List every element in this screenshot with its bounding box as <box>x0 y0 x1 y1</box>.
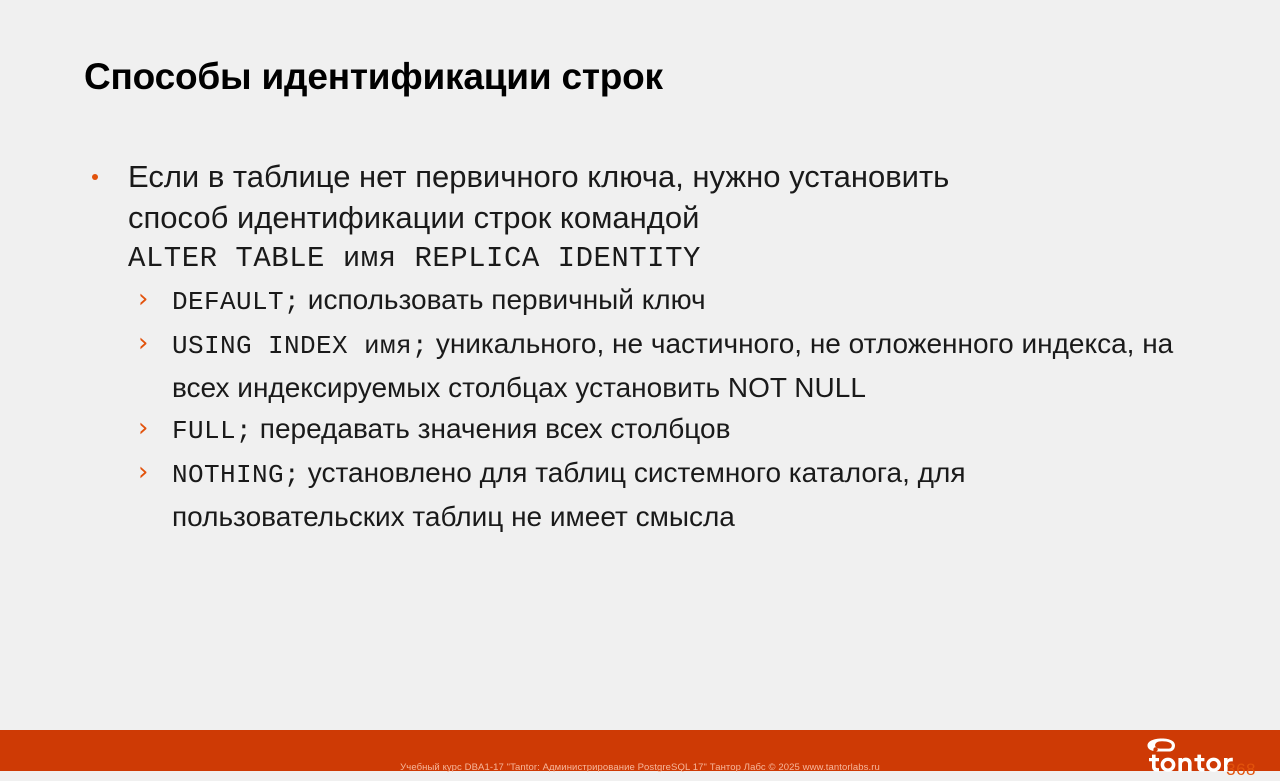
sub-bullet-nothing: › NOTHING; установлено для таблиц систем… <box>128 452 1204 537</box>
chevron-right-icon: › <box>138 279 148 320</box>
sub-bullet-list: › DEFAULT; использовать первичный ключ ›… <box>84 279 1204 537</box>
sub-bullet-text: передавать значения всех столбцов <box>252 413 730 444</box>
sub-bullet-using-index: › USING INDEX имя; уникального, не части… <box>128 323 1204 408</box>
sql-command-line: ALTER TABLE имя REPLICA IDENTITY <box>128 238 1204 279</box>
page-number: 368 <box>1226 760 1256 780</box>
slide: Способы идентификации строк Если в табли… <box>0 0 1280 781</box>
sub-bullet-keyword: NOTHING; <box>172 460 300 490</box>
footer-credit: Учебный курс DBA1-17 "Tantor: Администри… <box>0 762 1280 773</box>
main-bullet-line-2: способ идентификации строк командой <box>128 197 1204 238</box>
chevron-right-icon: › <box>138 408 148 449</box>
chevron-right-icon: › <box>138 323 148 364</box>
sub-bullet-keyword: USING INDEX имя; <box>172 331 428 361</box>
sub-bullet-default: › DEFAULT; использовать первичный ключ <box>128 279 1204 323</box>
main-bullet: Если в таблице нет первичного ключа, нуж… <box>84 156 1204 279</box>
main-bullet-line-1: Если в таблице нет первичного ключа, нуж… <box>128 156 1204 197</box>
chevron-right-icon: › <box>138 452 148 493</box>
sub-bullet-text: использовать первичный ключ <box>300 284 706 315</box>
bullet-dot-icon <box>92 174 98 180</box>
sub-bullet-keyword: FULL; <box>172 416 252 446</box>
page-title: Способы идентификации строк <box>84 56 663 98</box>
sub-bullet-keyword: DEFAULT; <box>172 287 300 317</box>
sub-bullet-full: › FULL; передавать значения всех столбцо… <box>128 408 1204 452</box>
slide-body: Если в таблице нет первичного ключа, нуж… <box>84 156 1204 537</box>
